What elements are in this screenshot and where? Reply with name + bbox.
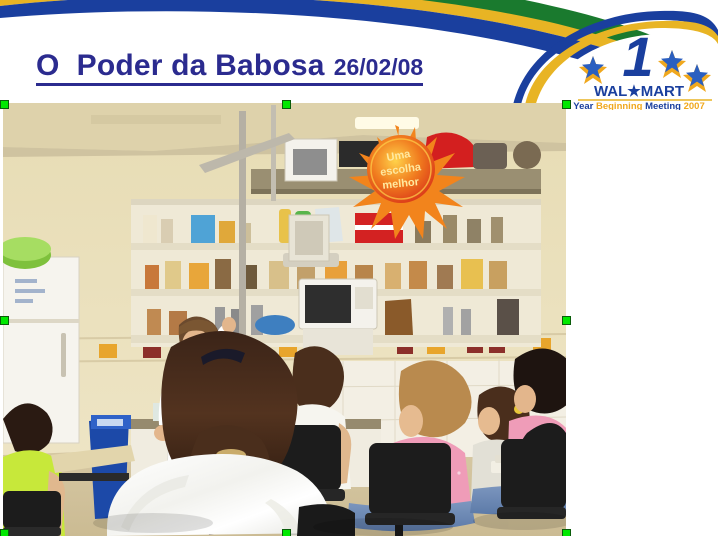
logo-tagline: Year Beginning Meeting 2007 xyxy=(573,101,704,110)
logo-tagline-year: Year xyxy=(573,101,596,110)
photo-ceiling-light xyxy=(355,117,419,129)
photo-wall-cabinet xyxy=(289,215,329,261)
photo-canvas: Uma escolha melhor xyxy=(3,103,566,536)
page-title-text: O Poder da Babosa xyxy=(36,50,325,82)
walmart-logo: 1 WAL★MART Year Beginning Meeting 2007 xyxy=(560,16,718,110)
selection-handle-bottom-right[interactable] xyxy=(562,529,571,536)
photo-chair-4 xyxy=(497,439,566,519)
slide-photo[interactable]: Uma escolha melhor xyxy=(3,103,566,536)
selection-handle-top-left[interactable] xyxy=(0,100,9,109)
presentation-slide: O Poder da Babosa 26/02/08 xyxy=(0,0,718,536)
selection-handle-bottom-center[interactable] xyxy=(282,529,291,536)
selection-handle-top-right[interactable] xyxy=(562,100,571,109)
logo-tagline-meeting: Meeting xyxy=(645,101,684,110)
photo-support-pole-2 xyxy=(271,105,276,201)
logo-tagline-year-number: 2007 xyxy=(684,101,705,110)
selection-handle-middle-left[interactable] xyxy=(0,316,9,325)
photo-ceiling-seam xyxy=(91,115,221,124)
slide-title-date: 26/02/08 xyxy=(334,55,424,79)
logo-numeral: 1 xyxy=(622,25,653,88)
slide-title: O Poder da Babosa 26/02/08 xyxy=(36,50,423,86)
selection-handle-bottom-left[interactable] xyxy=(0,529,9,536)
logo-brand-text: WAL★MART xyxy=(594,83,684,100)
selection-handle-middle-right[interactable] xyxy=(562,316,571,325)
logo-tagline-beginning: Beginning xyxy=(596,101,645,110)
selection-handle-top-center[interactable] xyxy=(282,100,291,109)
photo-chair-1 xyxy=(3,491,61,536)
